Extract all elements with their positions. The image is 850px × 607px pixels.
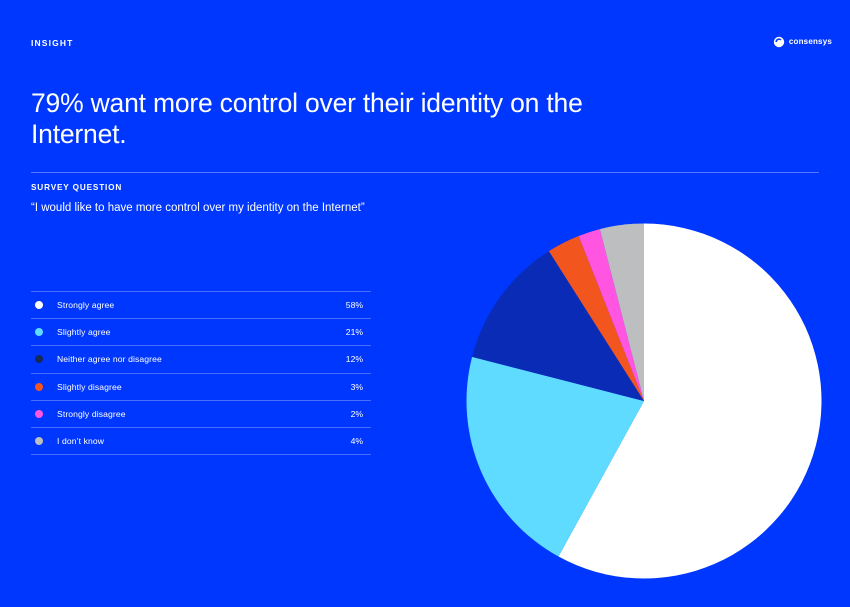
legend-label: Neither agree nor disagree: [57, 354, 346, 364]
page-title: 79% want more control over their identit…: [31, 88, 641, 151]
legend-value: 2%: [351, 409, 371, 419]
legend-label: I don’t know: [57, 436, 351, 446]
survey-question-text: “I would like to have more control over …: [31, 199, 371, 217]
legend-value: 12%: [346, 354, 371, 364]
legend-label: Strongly disagree: [57, 409, 351, 419]
eyebrow-label: INSIGHT: [31, 38, 74, 48]
legend-row: Slightly agree21%: [31, 319, 371, 346]
legend-table: Strongly agree58%Slightly agree21%Neithe…: [31, 291, 371, 455]
legend-value: 4%: [351, 436, 371, 446]
pie-chart-svg: [466, 223, 822, 579]
legend-label: Strongly agree: [57, 300, 346, 310]
legend-label: Slightly disagree: [57, 382, 351, 392]
legend-row: Neither agree nor disagree12%: [31, 346, 371, 373]
legend-color-swatch-icon: [35, 355, 43, 363]
slide-canvas: INSIGHT consensys 79% want more control …: [0, 0, 850, 607]
legend-label: Slightly agree: [57, 327, 346, 337]
legend-value: 3%: [351, 382, 371, 392]
brand-logo: consensys: [773, 36, 832, 48]
legend-color-swatch-icon: [35, 328, 43, 336]
legend-value: 58%: [346, 300, 371, 310]
legend-color-swatch-icon: [35, 383, 43, 391]
legend-color-swatch-icon: [35, 437, 43, 445]
pie-chart: [466, 223, 822, 579]
brand-name: consensys: [789, 38, 832, 46]
survey-question-label: SURVEY QUESTION: [31, 183, 122, 192]
legend-value: 21%: [346, 327, 371, 337]
section-divider: [31, 172, 819, 173]
legend-row: I don’t know4%: [31, 428, 371, 455]
legend-row: Strongly agree58%: [31, 292, 371, 319]
legend-row: Slightly disagree3%: [31, 374, 371, 401]
legend-color-swatch-icon: [35, 301, 43, 309]
legend-row: Strongly disagree2%: [31, 401, 371, 428]
legend-color-swatch-icon: [35, 410, 43, 418]
consensys-circle-icon: [773, 36, 785, 48]
